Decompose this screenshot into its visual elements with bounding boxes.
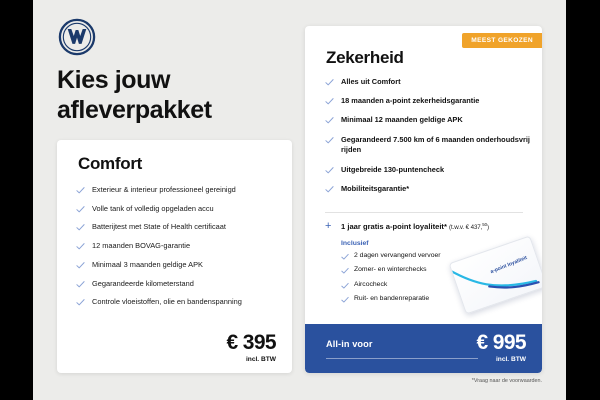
plus-icon: + <box>325 222 331 231</box>
comfort-price: € 395 <box>226 332 276 353</box>
zekerheid-title: Zekerheid <box>326 48 404 68</box>
check-icon <box>325 116 334 125</box>
list-item-label: 18 maanden a-point zekerheidsgarantie <box>341 96 479 105</box>
headline-line-2: afleverpakket <box>57 96 307 126</box>
list-item: Volle tank of volledig opgeladen accu <box>76 204 278 215</box>
includes-title: Inclusief <box>341 240 369 247</box>
zekerheid-feature-list: Alles uit Comfort 18 maanden a-point zek… <box>325 77 530 203</box>
comfort-feature-list: Exterieur & interieur professioneel gere… <box>76 185 278 316</box>
list-item-label: Aircocheck <box>354 281 387 288</box>
comfort-title: Comfort <box>78 154 142 174</box>
list-item-label: Gegarandeerde kilometerstand <box>92 279 194 288</box>
zekerheid-price-block: € 995 incl. BTW <box>476 332 526 363</box>
zekerheid-price: € 995 <box>476 332 526 353</box>
list-item: Mobiliteitsgarantie* <box>325 184 530 195</box>
list-item-label: Uitgebreide 130-puntencheck <box>341 165 444 174</box>
list-item: Controle vloeistoffen, olie en bandenspa… <box>76 297 278 308</box>
list-item-label: Controle vloeistoffen, olie en bandenspa… <box>92 297 242 306</box>
list-item: Gegarandeerde kilometerstand <box>76 279 278 290</box>
check-icon <box>325 136 334 145</box>
footnote: *Vraag naar de voorwaarden. <box>305 378 542 384</box>
comfort-price-block: € 395 incl. BTW <box>226 332 276 363</box>
comfort-price-note: incl. BTW <box>226 356 276 363</box>
package-card-comfort[interactable]: Comfort Exterieur & interieur profession… <box>57 140 292 373</box>
check-icon <box>76 298 85 307</box>
list-item: Exterieur & interieur professioneel gere… <box>76 185 278 196</box>
check-icon <box>325 78 334 87</box>
zekerheid-price-bar: All-in voor € 995 incl. BTW <box>305 324 542 373</box>
list-item-label: Zomer- en winterchecks <box>354 266 427 273</box>
letterbox-left <box>0 0 33 400</box>
list-item: Uitgebreide 130-puntencheck <box>325 165 530 176</box>
list-item-label: Mobiliteitsgarantie* <box>341 184 409 193</box>
page-title: Kies jouw afleverpakket <box>57 66 307 125</box>
check-icon <box>325 185 334 194</box>
allin-label: All-in voor <box>326 339 373 349</box>
check-icon <box>76 280 85 289</box>
check-icon <box>76 242 85 251</box>
check-icon <box>341 253 349 261</box>
list-item: 18 maanden a-point zekerheidsgarantie <box>325 96 530 107</box>
list-item: 12 maanden BOVAG-garantie <box>76 241 278 252</box>
list-item-label: 2 dagen vervangend vervoer <box>354 252 441 259</box>
letterbox-right <box>566 0 600 400</box>
ad-canvas: Kies jouw afleverpakket Comfort Exterieu… <box>33 0 566 400</box>
list-item-label: Minimaal 12 maanden geldige APK <box>341 115 463 124</box>
check-icon <box>341 296 349 304</box>
loyalty-addon-value: (t.w.v. € 437,50) <box>449 224 489 231</box>
loyalty-card-graphic: a-point loyaliteit <box>449 235 542 314</box>
zekerheid-price-note: incl. BTW <box>476 356 526 363</box>
check-icon <box>76 261 85 270</box>
screenshot-stage: Kies jouw afleverpakket Comfort Exterieu… <box>0 0 600 400</box>
check-icon <box>341 282 349 290</box>
list-item-label: 12 maanden BOVAG-garantie <box>92 241 190 250</box>
check-icon <box>325 166 334 175</box>
headline-line-1: Kies jouw <box>57 66 307 96</box>
package-card-zekerheid[interactable]: MEEST GEKOZEN Zekerheid Alles uit Comfor… <box>305 26 542 373</box>
status-badge: MEEST GEKOZEN <box>462 33 542 48</box>
list-item: Gegarandeerd 7.500 km of 6 maanden onder… <box>325 135 530 156</box>
price-bar-rule <box>326 358 478 359</box>
list-item-label: Exterieur & interieur professioneel gere… <box>92 185 236 194</box>
list-item: Batterijtest met State of Health certifi… <box>76 222 278 233</box>
loyalty-addon-label: 1 jaar gratis a-point loyaliteit* <box>325 222 447 231</box>
list-item-label: Ruit- en bandenreparatie <box>354 295 429 302</box>
check-icon <box>341 267 349 275</box>
loyalty-value-prefix: (t.w.v. € 437, <box>449 224 482 231</box>
list-item-label: Volle tank of volledig opgeladen accu <box>92 204 214 213</box>
list-item-label: Gegarandeerd 7.500 km of 6 maanden onder… <box>341 135 530 155</box>
list-item-label: Alles uit Comfort <box>341 77 401 86</box>
check-icon <box>325 97 334 106</box>
check-icon <box>76 186 85 195</box>
volkswagen-logo <box>58 18 96 56</box>
loyalty-value-suffix: ) <box>487 224 489 231</box>
section-divider <box>325 212 523 213</box>
list-item: Minimaal 12 maanden geldige APK <box>325 115 530 126</box>
list-item-label: Minimaal 3 maanden geldige APK <box>92 260 203 269</box>
list-item: Alles uit Comfort <box>325 77 530 88</box>
loyalty-addon-row: + 1 jaar gratis a-point loyaliteit* (t.w… <box>325 222 535 231</box>
list-item-label: Batterijtest met State of Health certifi… <box>92 222 226 231</box>
check-icon <box>76 205 85 214</box>
check-icon <box>76 223 85 232</box>
list-item: Minimaal 3 maanden geldige APK <box>76 260 278 271</box>
